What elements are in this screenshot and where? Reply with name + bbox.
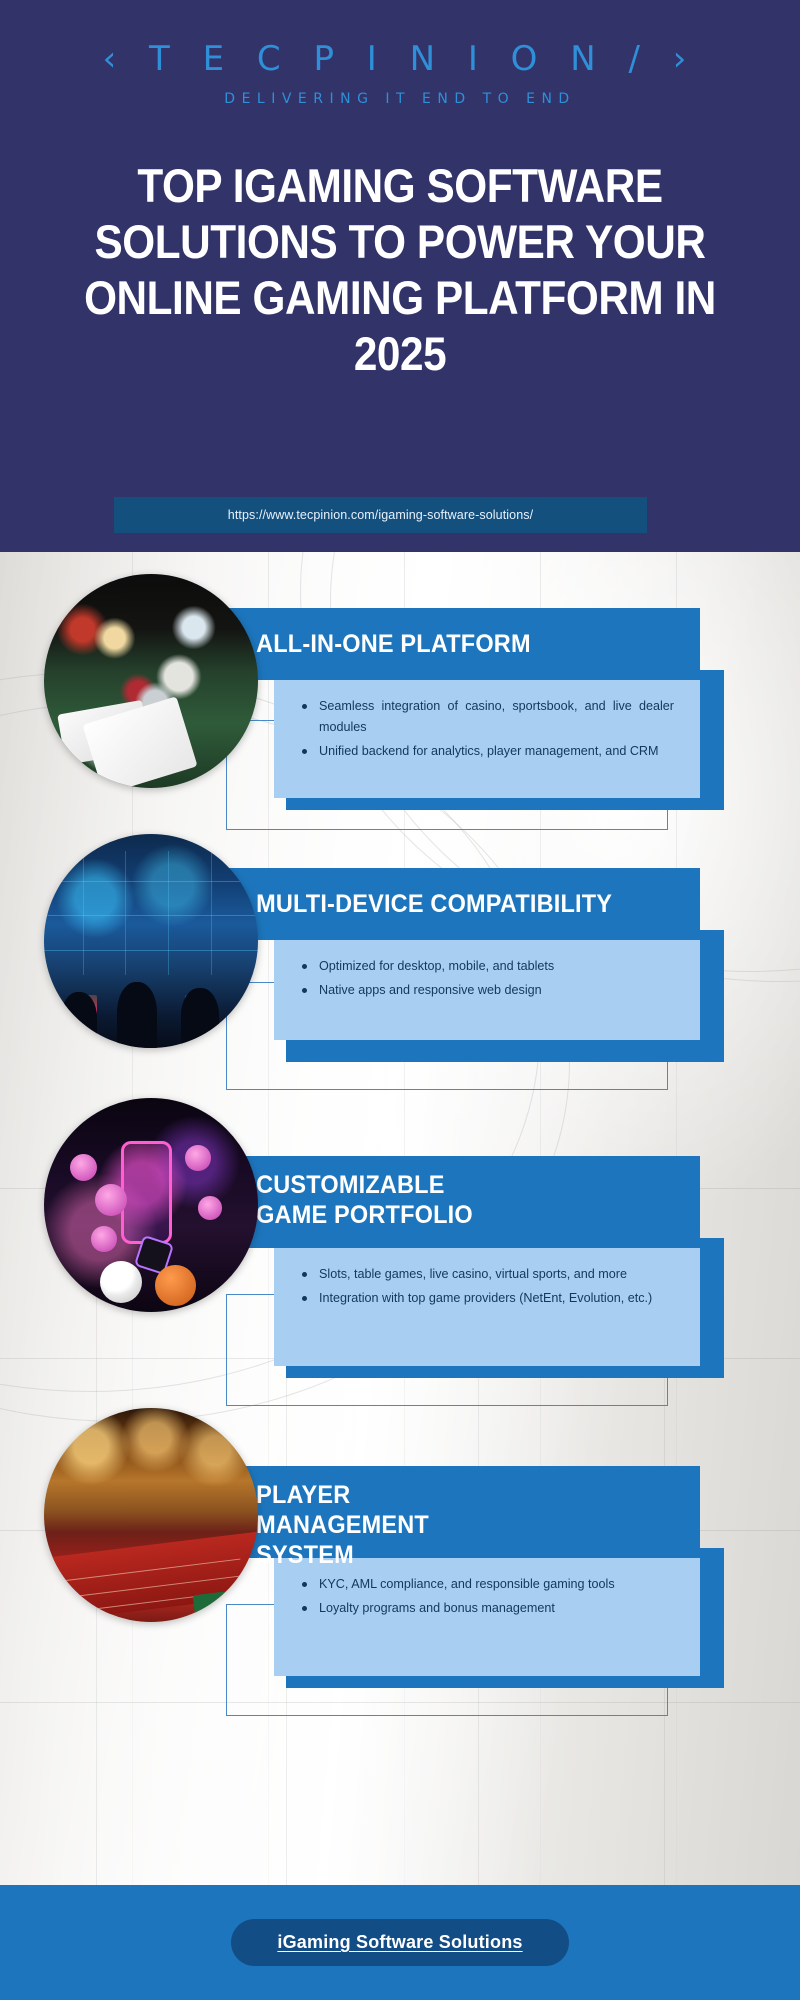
cta-button[interactable]: iGaming Software Solutions (231, 1919, 568, 1966)
casino-poker-chips-photo (44, 574, 258, 788)
card-body: Seamless integration of casino, sportsbo… (274, 680, 700, 798)
casino-floor-roulette-photo (44, 1408, 258, 1622)
card-title: MULTI-DEVICE COMPATIBILITY (226, 889, 625, 919)
card-header: PLAYER MANAGEMENT SYSTEM (226, 1466, 700, 1558)
card-header: MULTI-DEVICE COMPATIBILITY (226, 868, 700, 940)
card-bullet-list: Seamless integration of casino, sportsbo… (300, 696, 674, 762)
logo-tagline: DELIVERING IT END TO END (0, 92, 800, 106)
card-title: ALL-IN-ONE PLATFORM (226, 629, 544, 659)
logo-wordmark: ‹ T E C P I N I O N / › (0, 42, 800, 76)
card-title: CUSTOMIZABLE GAME PORTFOLIO (226, 1156, 508, 1230)
card-bullet-list: Optimized for desktop, mobile, and table… (300, 956, 674, 1001)
list-item: Integration with top game providers (Net… (300, 1288, 674, 1309)
futuristic-control-room-photo (44, 834, 258, 1048)
infographic-body: Seamless integration of casino, sportsbo… (0, 552, 800, 1885)
card-header: CUSTOMIZABLE GAME PORTFOLIO (226, 1156, 700, 1248)
infographic-footer: iGaming Software Solutions (0, 1885, 800, 2000)
cta-label: iGaming Software Solutions (277, 1932, 522, 1952)
card-bullet-list: Slots, table games, live casino, virtual… (300, 1264, 674, 1309)
list-item: Slots, table games, live casino, virtual… (300, 1264, 674, 1285)
source-url-text: https://www.tecpinion.com/igaming-softwa… (228, 508, 533, 522)
list-item: Native apps and responsive web design (300, 980, 674, 1001)
card-body: KYC, AML compliance, and responsible gam… (274, 1558, 700, 1676)
source-url-band: https://www.tecpinion.com/igaming-softwa… (114, 497, 647, 533)
brand-logo: ‹ T E C P I N I O N / › DELIVERING IT EN… (0, 42, 800, 106)
infographic-header: ‹ T E C P I N I O N / › DELIVERING IT EN… (0, 0, 800, 552)
list-item: Optimized for desktop, mobile, and table… (300, 956, 674, 977)
list-item: Seamless integration of casino, sportsbo… (300, 696, 674, 738)
page-title: TOP IGAMING SOFTWARE SOLUTIONS TO POWER … (60, 158, 740, 382)
list-item: Unified backend for analytics, player ma… (300, 741, 674, 762)
list-item: KYC, AML compliance, and responsible gam… (300, 1574, 674, 1595)
card-title: PLAYER MANAGEMENT SYSTEM (226, 1466, 508, 1570)
list-item: Loyalty programs and bonus management (300, 1598, 674, 1619)
card-bullet-list: KYC, AML compliance, and responsible gam… (300, 1574, 674, 1619)
neon-gaming-collage-photo (44, 1098, 258, 1312)
card-header: ALL-IN-ONE PLATFORM (226, 608, 700, 680)
card-body: Optimized for desktop, mobile, and table… (274, 940, 700, 1040)
card-body: Slots, table games, live casino, virtual… (274, 1248, 700, 1366)
